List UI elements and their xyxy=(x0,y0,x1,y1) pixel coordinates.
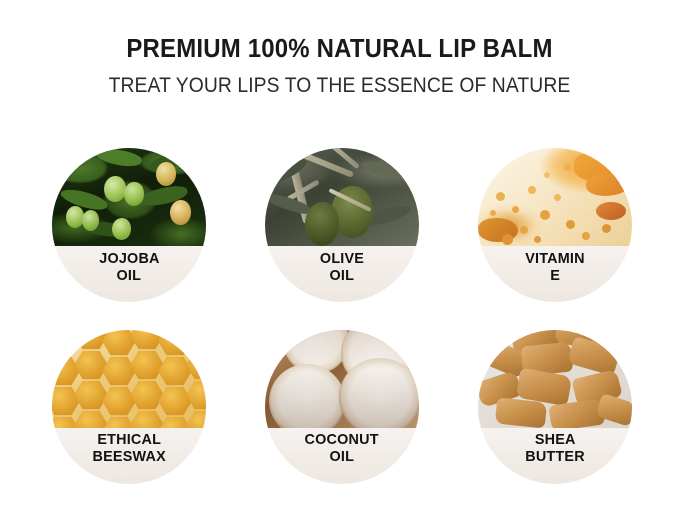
ingredient-card-olive-oil[interactable]: OLIVE OIL xyxy=(265,148,419,302)
ingredient-row-1: JOJOBA OIL xyxy=(0,148,679,302)
ingredient-circle: OLIVE OIL xyxy=(265,148,419,302)
ingredient-card-shea-butter[interactable]: SHEA BUTTER xyxy=(478,330,632,484)
vitamin-e-oil-photo xyxy=(478,148,632,246)
ingredient-circle: ETHICAL BEESWAX xyxy=(52,330,206,484)
ingredient-label-line2: BEESWAX xyxy=(92,449,165,466)
ingredient-label: COCONUT OIL xyxy=(265,428,419,484)
ingredient-circle: JOJOBA OIL xyxy=(52,148,206,302)
ingredient-circle: SHEA BUTTER xyxy=(478,330,632,484)
ingredient-label-line1: SHEA xyxy=(535,432,576,449)
olive-branch-photo xyxy=(265,148,419,246)
ingredient-label: OLIVE OIL xyxy=(265,246,419,302)
ingredient-label-line1: JOJOBA xyxy=(99,251,159,268)
ingredient-card-coconut-oil[interactable]: COCONUT OIL xyxy=(265,330,419,484)
ingredient-label: JOJOBA OIL xyxy=(52,246,206,302)
page-subtitle: TREAT YOUR LIPS TO THE ESSENCE OF NATURE xyxy=(27,75,652,96)
jojoba-berries-photo xyxy=(52,148,206,246)
ingredient-circle: VITAMIN E xyxy=(478,148,632,302)
ingredient-label-line2: OIL xyxy=(330,268,355,285)
ingredient-label-line2: BUTTER xyxy=(525,449,585,466)
ingredient-label: VITAMIN E xyxy=(478,246,632,302)
ingredient-circle: COCONUT OIL xyxy=(265,330,419,484)
ingredient-label-line1: ETHICAL xyxy=(97,432,161,449)
ingredient-label-line2: OIL xyxy=(117,268,142,285)
ingredient-label-line1: VITAMIN xyxy=(525,251,584,268)
ingredient-label-line2: E xyxy=(550,268,560,285)
ingredient-card-ethical-beeswax[interactable]: ETHICAL BEESWAX xyxy=(52,330,206,484)
ingredient-card-jojoba-oil[interactable]: JOJOBA OIL xyxy=(52,148,206,302)
shea-butter-chunks-photo xyxy=(478,330,632,428)
ingredient-grid: JOJOBA OIL xyxy=(0,148,679,484)
ingredient-label-line2: OIL xyxy=(330,449,355,466)
ingredient-row-2: ETHICAL BEESWAX COCONUT xyxy=(0,330,679,484)
ingredient-label: SHEA BUTTER xyxy=(478,428,632,484)
page-title: PREMIUM 100% NATURAL LIP BALM xyxy=(20,37,658,63)
ingredient-label-line1: OLIVE xyxy=(320,251,364,268)
honeycomb-photo xyxy=(52,330,206,428)
coconut-halves-photo xyxy=(265,330,419,428)
ingredient-card-vitamin-e[interactable]: VITAMIN E xyxy=(478,148,632,302)
ingredient-label-line1: COCONUT xyxy=(305,432,379,449)
ingredient-label: ETHICAL BEESWAX xyxy=(52,428,206,484)
header: PREMIUM 100% NATURAL LIP BALM TREAT YOUR… xyxy=(0,0,679,96)
